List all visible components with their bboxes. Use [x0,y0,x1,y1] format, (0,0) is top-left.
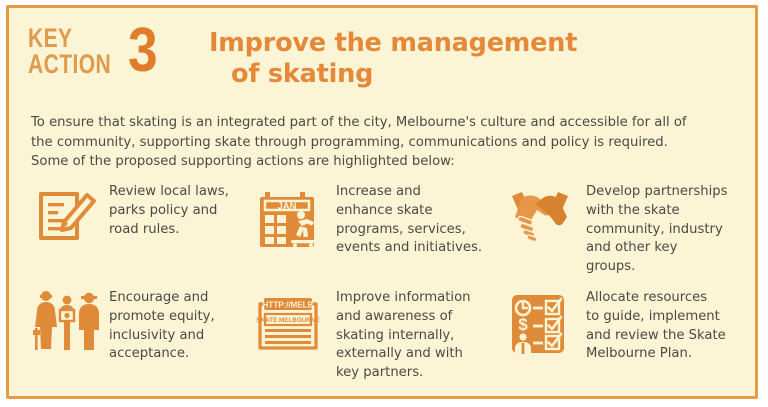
document-pencil-icon [31,180,103,252]
action-text-review-laws: Review local laws, parks policy and road… [109,180,276,239]
action-text-line: Melbourne Plan. [586,345,749,364]
webpage-url-label: HTTP://MELB [263,300,314,309]
action-text-information: Improve information and awareness of ska… [336,286,499,383]
action-text-line: and other key [586,239,749,258]
poster-header: KEY ACTION 3 Improve the management of s… [9,8,755,104]
action-text-line: Allocate resources [586,289,749,308]
action-text-line: Increase and [336,183,499,202]
page-title-line-1: Improve the management [209,28,735,59]
action-text-line: and awareness of [336,308,499,327]
actions-grid: Review local laws, parks policy and road… [9,176,755,396]
intro-paragraph: To ensure that skating is an integrated … [31,113,731,172]
resources-checklist-icon: $ [504,286,576,358]
intro-line-3: Some of the proposed supporting actions … [31,152,731,172]
webpage-title-label: SKATE MELBOURNE [256,317,319,324]
action-item-skate-programs: JAN [254,180,499,258]
key-action-words: KEY ACTION [28,25,111,77]
action-text-line: with the skate [586,202,749,221]
intro-line-1: To ensure that skating is an integrated … [31,113,731,133]
action-text-line: community, industry [586,221,749,240]
people-diversity-icon [31,286,103,358]
action-text-line: groups. [586,258,749,277]
action-item-partnerships: Develop partnerships with the skate comm… [504,180,749,277]
action-text-line: Improve information [336,289,499,308]
action-text-line: programs, services, [336,221,499,240]
action-text-line: to guide, implement [586,308,749,327]
action-text-skate-programs: Increase and enhance skate programs, ser… [336,180,499,258]
action-text-line: events and initiatives. [336,239,499,258]
page-title: Improve the management of skating [209,28,735,90]
key-word: KEY [28,25,111,51]
action-text-partnerships: Develop partnerships with the skate comm… [586,180,749,277]
webpage-icon: HTTP://MELB SKATE MELBOURNE [254,286,326,358]
action-item-review-laws: Review local laws, parks policy and road… [31,180,276,252]
action-text-line: Review local laws, [109,183,276,202]
intro-line-2: the community, supporting skate through … [31,133,731,153]
calendar-skateboarder-icon: JAN [254,180,326,252]
action-word: ACTION [28,51,111,77]
key-action-poster: KEY ACTION 3 Improve the management of s… [6,5,758,399]
page-title-line-2: of skating [209,59,735,90]
action-item-equity: Encourage and promote equity, inclusivit… [31,286,276,364]
handshake-icon [504,180,576,252]
action-text-line: inclusivity and [109,327,276,346]
action-text-line: parks policy and [109,202,276,221]
action-text-equity: Encourage and promote equity, inclusivit… [109,286,276,364]
action-text-line: key partners. [336,364,499,383]
action-text-line: skating internally, [336,327,499,346]
key-action-label: KEY ACTION 3 [28,25,188,77]
action-item-information: HTTP://MELB SKATE MELBOURNE Improve info… [254,286,499,383]
action-text-line: Develop partnerships [586,183,749,202]
action-text-line: promote equity, [109,308,276,327]
action-text-line: externally and with [336,345,499,364]
action-item-resources: $ [504,286,749,364]
action-text-resources: Allocate resources to guide, implement a… [586,286,749,364]
dollar-sign-glyph: $ [518,315,528,334]
action-text-line: Encourage and [109,289,276,308]
action-text-line: road rules. [109,221,276,240]
calendar-month-label: JAN [277,201,296,212]
action-text-line: enhance skate [336,202,499,221]
action-text-line: and review the Skate [586,327,749,346]
action-number: 3 [128,20,158,82]
action-text-line: acceptance. [109,345,276,364]
